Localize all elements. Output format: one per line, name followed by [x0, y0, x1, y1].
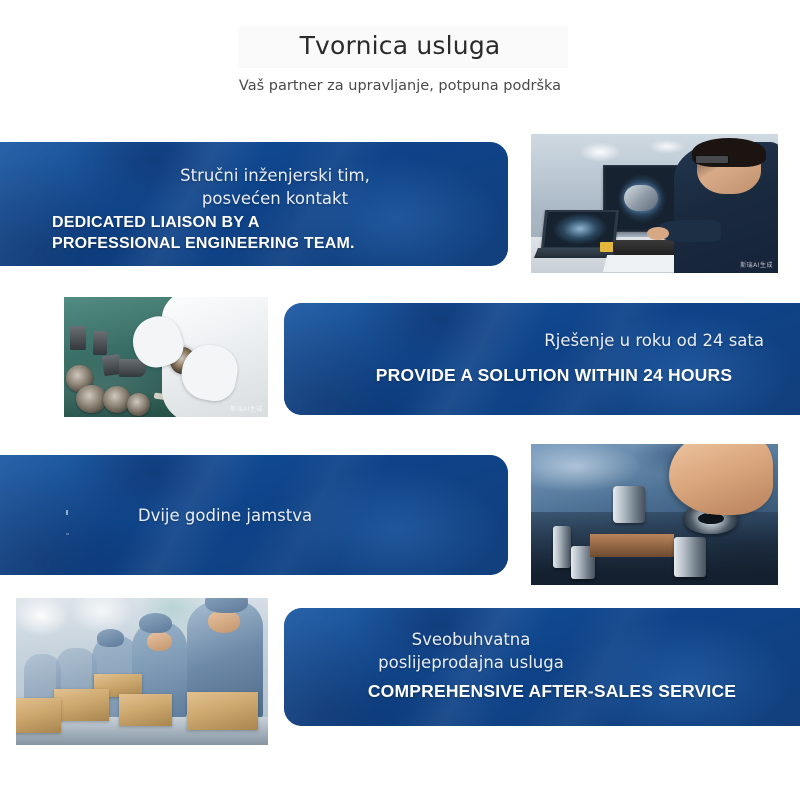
banner-subtitle-24h-solution: Rješenje u roku od 24 sata — [454, 329, 764, 352]
service-banner-engineering-team[interactable]: Stručni inženjerski tim, posvećen kontak… — [0, 142, 508, 266]
photo-worker-face — [208, 610, 241, 634]
photo-worker-face — [147, 632, 172, 651]
photo-precision-bearing-assembly — [531, 444, 778, 585]
photo-carton-box — [54, 689, 109, 721]
service-banner-after-sales-service[interactable]: Sveobuhvatna poslijeprodajna usluga COMP… — [284, 608, 800, 726]
photo-motor-part — [93, 331, 107, 355]
photo-technician-hand — [669, 444, 773, 515]
photo-workers-packing-boxes — [16, 598, 268, 745]
banner-subtitle-two-year-warranty: Dvije godine jamstva — [60, 504, 390, 527]
banner-artifact-mark — [66, 510, 68, 515]
photo-carton-box — [16, 698, 61, 733]
photo-carton-box — [187, 692, 258, 730]
banner-headline-24h-solution: PROVIDE A SOLUTION WITHIN 24 HOURS — [344, 365, 764, 386]
photo-gear — [127, 393, 149, 416]
photo-engineer-at-cad-workstation: 斯瑞AI生成 — [531, 134, 778, 273]
photo-watermark: 斯瑞AI生成 — [740, 260, 773, 269]
banner-artifact-mark — [66, 533, 69, 535]
banner-texture — [284, 303, 800, 415]
photo-motor-part — [70, 326, 86, 350]
service-factory-page: Tvornica usluga Vaš partner za upravljan… — [0, 0, 800, 800]
banner-headline-engineering-team: DEDICATED LIAISON BY A PROFESSIONAL ENGI… — [52, 212, 452, 254]
photo-worker-cap — [139, 613, 172, 634]
banner-subtitle-after-sales-service: Sveobuhvatna poslijeprodajna usluga — [346, 628, 596, 674]
photo-cylinder-part — [553, 526, 570, 568]
page-subtitle: Vaš partner za upravljanje, potpuna podr… — [0, 75, 800, 97]
photo-worker-cap — [205, 598, 248, 613]
photo-worker-cap — [97, 629, 125, 647]
service-banner-two-year-warranty[interactable]: Dvije godine jamstva — [0, 455, 508, 575]
photo-engineer-glasses — [695, 155, 729, 164]
page-header: Tvornica usluga Vaš partner za upravljan… — [0, 0, 800, 120]
photo-engineer-hand — [647, 227, 669, 240]
photo-carton-box — [119, 694, 172, 726]
photo-copper-plate — [590, 534, 674, 557]
banner-headline-after-sales-service: COMPREHENSIVE AFTER-SALES SERVICE — [342, 681, 762, 702]
service-banner-24h-solution[interactable]: Rješenje u roku od 24 sata PROVIDE A SOL… — [284, 303, 800, 415]
photo-cylinder-part — [674, 537, 706, 576]
photo-cylinder-part — [613, 486, 645, 523]
photo-machine-parts — [613, 240, 677, 255]
page-title: Tvornica usluga — [0, 27, 800, 65]
photo-gloved-hands-assembling-micro-motors: 斯瑞AI生成 — [64, 297, 268, 417]
photo-watermark: 斯瑞AI生成 — [230, 404, 263, 413]
banner-subtitle-engineering-team: Stručni inženjerski tim, posvećen kontak… — [110, 164, 440, 210]
